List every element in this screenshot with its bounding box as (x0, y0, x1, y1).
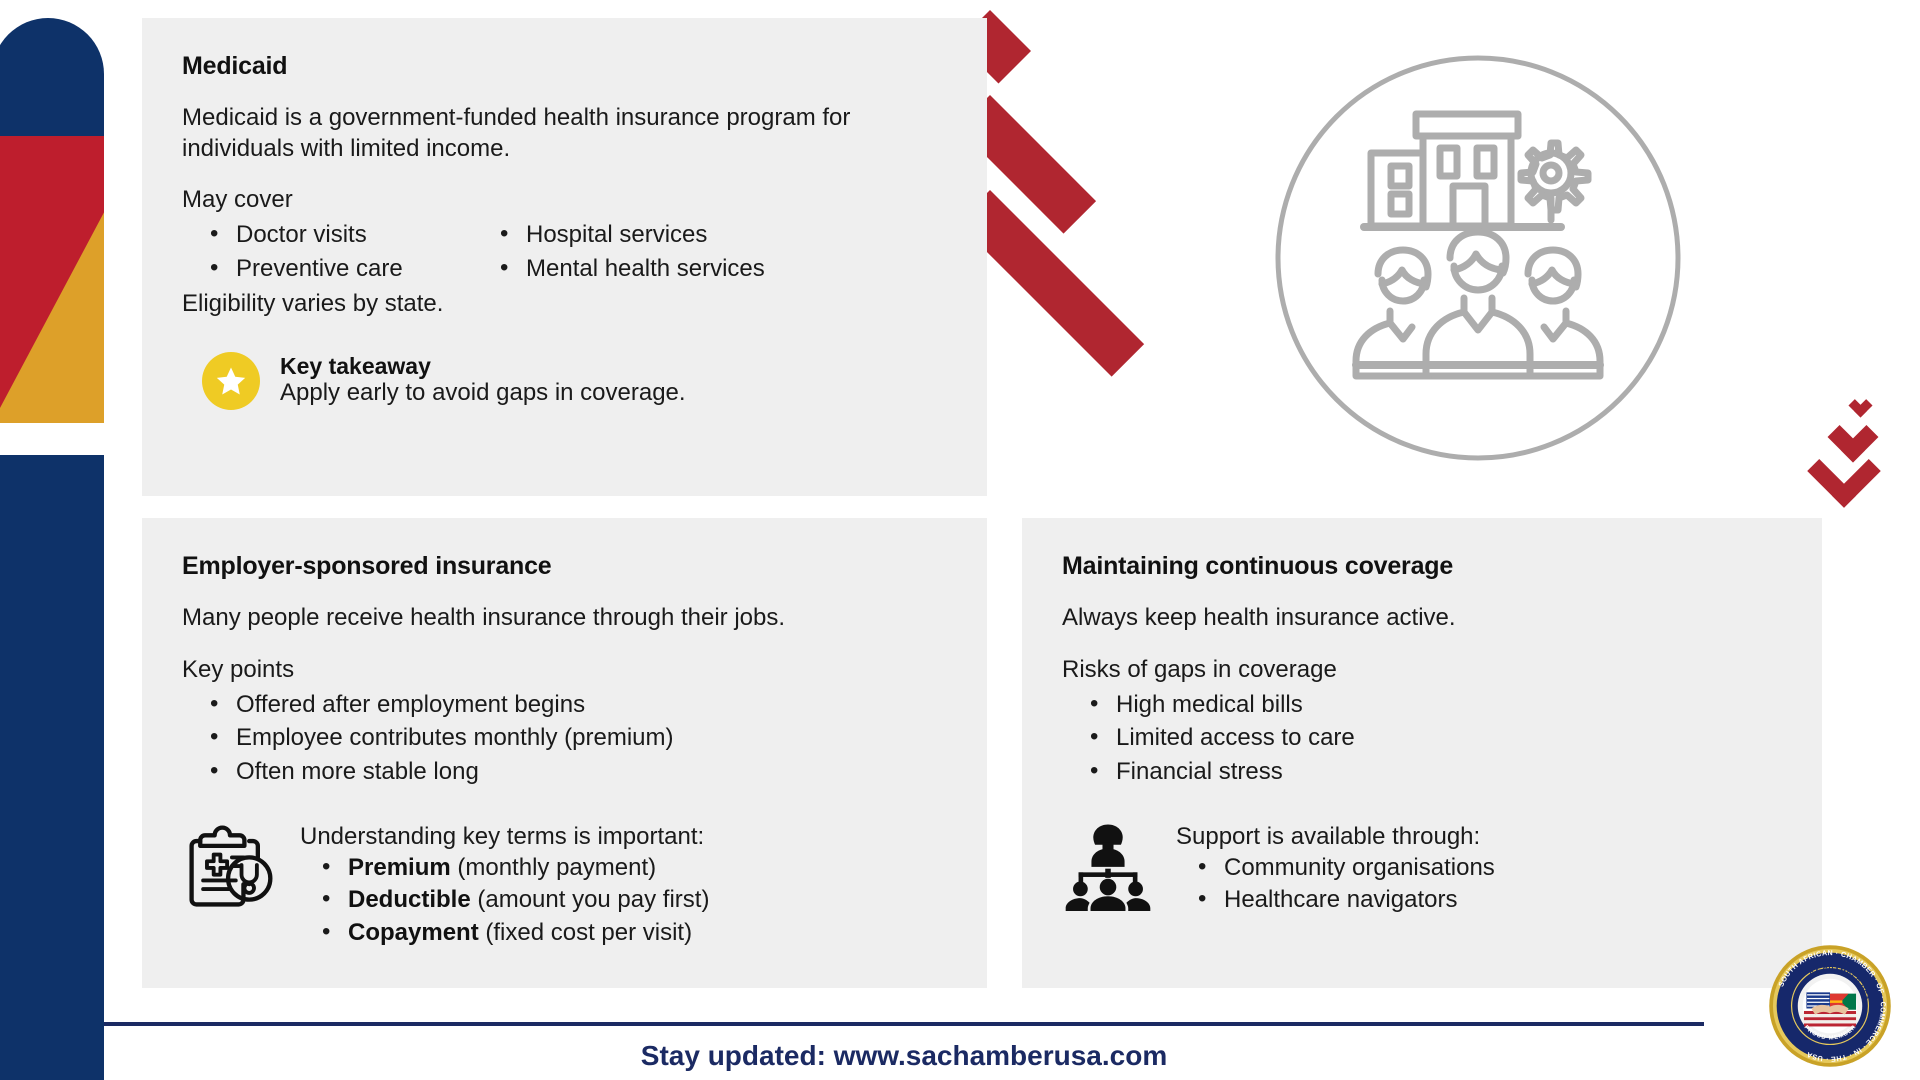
list-item: Premium (monthly payment) (322, 852, 709, 885)
key-points-list: Offered after employment begins Employee… (210, 688, 947, 789)
card-lead-employer: Many people receive health insurance thr… (182, 603, 947, 634)
list-item: Hospital services (500, 218, 800, 252)
card-medicaid: Medicaid Medicaid is a government-funded… (142, 18, 987, 496)
support-heading: Support is available through: (1176, 823, 1495, 851)
clipboard-stethoscope-icon (182, 819, 278, 920)
card-title-medicaid: Medicaid (182, 52, 947, 81)
key-terms-list: Premium (monthly payment) Deductible (am… (322, 852, 709, 950)
left-navy-bar (0, 455, 104, 1080)
card-employer-sponsored: Employer-sponsored insurance Many people… (142, 518, 987, 988)
list-item: Financial stress (1090, 755, 1782, 789)
card-title-coverage: Maintaining continuous coverage (1062, 552, 1782, 581)
chevron-down-decoration (1808, 395, 1912, 510)
footer-website-text[interactable]: Stay updated: www.sachamberusa.com (104, 1040, 1704, 1072)
sub-label-risks: Risks of gaps in coverage (1062, 656, 1782, 684)
key-terms-block: Understanding key terms is important: Pr… (182, 819, 947, 950)
term-desc: (fixed cost per visit) (485, 919, 692, 946)
card-title-employer: Employer-sponsored insurance (182, 552, 947, 581)
term-desc: (monthly payment) (457, 854, 656, 881)
list-item: Often more stable long (210, 755, 947, 789)
key-takeaway-block: Key takeaway Apply early to avoid gaps i… (202, 352, 947, 410)
list-item: Copayment (fixed cost per visit) (322, 917, 709, 950)
list-item: Healthcare navigators (1198, 884, 1495, 917)
coverage-columns: Doctor visits Preventive care Hospital s… (210, 218, 947, 285)
list-item: Limited access to care (1090, 721, 1782, 755)
coverage-list-left: Doctor visits Preventive care (210, 218, 500, 285)
arch-navy-band (0, 18, 104, 136)
support-block: Support is available through: Community … (1062, 819, 1782, 917)
list-item: Offered after employment begins (210, 688, 947, 722)
list-item: Deductible (amount you pay first) (322, 884, 709, 917)
key-terms-heading: Understanding key terms is important: (300, 823, 709, 851)
sa-chamber-usa-seal: SOUTH AFRICAN · CHAMBER · OF · COMMERCE … (1768, 944, 1892, 1068)
star-icon (202, 352, 260, 410)
infographic-canvas: Medicaid Medicaid is a government-funded… (0, 0, 1920, 1080)
diagonal-stripes-decoration (960, 0, 1170, 340)
team-network-icon (1062, 819, 1154, 916)
list-item: High medical bills (1090, 688, 1782, 722)
term-name: Copayment (348, 919, 479, 946)
eligibility-note: Eligibility varies by state. (182, 290, 947, 318)
list-item: Mental health services (500, 252, 800, 286)
term-name: Deductible (348, 886, 471, 913)
support-list: Community organisations Healthcare navig… (1198, 852, 1495, 917)
building-gear-people-icon (1268, 48, 1688, 468)
footer-divider (104, 1022, 1704, 1026)
list-item: Community organisations (1198, 852, 1495, 885)
list-item: Employee contributes monthly (premium) (210, 721, 947, 755)
card-lead-medicaid: Medicaid is a government-funded health i… (182, 103, 947, 164)
term-name: Premium (348, 854, 451, 881)
coverage-list-right: Hospital services Mental health services (500, 218, 800, 285)
left-arch-decoration (0, 18, 104, 423)
list-item: Doctor visits (210, 218, 500, 252)
card-continuous-coverage: Maintaining continuous coverage Always k… (1022, 518, 1822, 988)
list-item: Preventive care (210, 252, 500, 286)
card-lead-coverage: Always keep health insurance active. (1062, 603, 1782, 634)
takeaway-body: Apply early to avoid gaps in coverage. (280, 379, 686, 408)
sub-label-key-points: Key points (182, 656, 947, 684)
sub-label-may-cover: May cover (182, 186, 947, 214)
term-desc: (amount you pay first) (477, 886, 709, 913)
risks-list: High medical bills Limited access to car… (1090, 688, 1782, 789)
takeaway-title: Key takeaway (280, 354, 686, 380)
